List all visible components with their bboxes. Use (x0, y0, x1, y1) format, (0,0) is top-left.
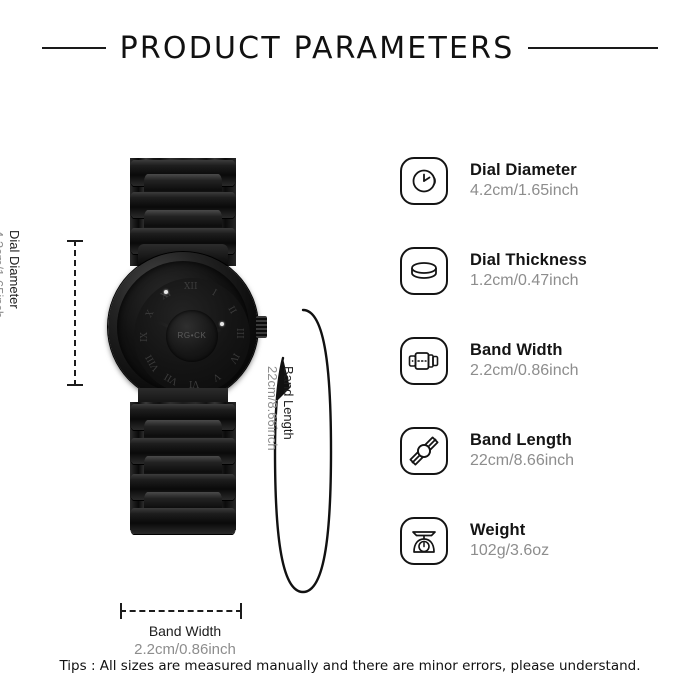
spec-value: 1.2cm/0.47inch (470, 271, 587, 292)
kitchen-scale-icon (400, 517, 448, 565)
watch-case: XII I II III IV V VI VII VIII IX X XI (108, 252, 258, 402)
watch-product-image: XII I II III IV V VI VII VIII IX X XI (108, 140, 258, 610)
band-width-dimension-line (120, 610, 242, 612)
dial-numeral: X (144, 309, 156, 320)
watch-crown (256, 316, 267, 338)
spec-row-dial-diameter: Dial Diameter 4.2cm/1.65inch (400, 148, 690, 214)
dial-numeral: II (225, 305, 237, 316)
spec-label: Weight (470, 520, 549, 541)
dial-brand-text: RG•CK (166, 331, 218, 340)
dial-numeral: III (234, 328, 244, 339)
callout-label: Band Length (280, 366, 296, 546)
spec-text: Dial Thickness 1.2cm/0.47inch (470, 250, 587, 291)
spec-text: Band Width 2.2cm/0.86inch (470, 340, 579, 381)
callout-value: 22cm/8.66inch (265, 366, 281, 546)
spec-row-weight: Weight 102g/3.6oz (400, 508, 690, 574)
spec-row-band-length: Band Length 22cm/8.66inch (400, 418, 690, 484)
spec-text: Dial Diameter 4.2cm/1.65inch (470, 160, 579, 201)
dial-numeral: XII (184, 282, 198, 292)
spec-value: 4.2cm/1.65inch (470, 181, 579, 202)
watch-band-lower (130, 402, 236, 530)
dial-bead (164, 290, 168, 294)
dial-numeral: IX (140, 332, 150, 342)
dial-hub: RG•CK (166, 310, 218, 362)
watch-clock-icon (400, 157, 448, 205)
page-title: PRODUCT PARAMETERS (120, 31, 515, 66)
watch-strap-diagonal-icon (400, 427, 448, 475)
spec-row-band-width: Band Width 2.2cm/0.86inch (400, 328, 690, 394)
title-rule-right (528, 47, 658, 49)
callout-value: 2.2cm/0.86inch (60, 640, 310, 660)
callout-value: 4.2cm/1.65inch (0, 230, 6, 400)
watch-dial: XII I II III IV V VI VII VIII IX X XI (134, 278, 250, 394)
dial-diameter-callout: Dial Diameter 4.2cm/1.65inch (0, 230, 22, 400)
disc-thickness-icon (400, 247, 448, 295)
watch-bezel: XII I II III IV V VI VII VIII IX X XI (117, 261, 249, 393)
dial-numeral: VIII (144, 353, 161, 373)
dial-diameter-dimension-line (74, 240, 76, 386)
band-width-callout: Band Width 2.2cm/0.86inch (60, 622, 310, 660)
spec-text: Band Length 22cm/8.66inch (470, 430, 574, 471)
dial-numeral: VII (163, 371, 180, 386)
band-length-loop: Band Length 22cm/8.66inch (272, 306, 334, 596)
callout-label: Band Width (60, 622, 310, 640)
dial-numeral: I (210, 288, 218, 298)
watch-band-icon (400, 337, 448, 385)
title-rule-left (42, 47, 106, 49)
dial-numeral: V (211, 370, 222, 382)
dial-numeral: VI (189, 378, 199, 388)
band-link (130, 508, 236, 534)
callout-label: Dial Diameter (6, 230, 22, 400)
spec-label: Band Length (470, 430, 574, 451)
spec-label: Dial Diameter (470, 160, 579, 181)
spec-text: Weight 102g/3.6oz (470, 520, 549, 561)
specifications-list: Dial Diameter 4.2cm/1.65inch Dial Thickn… (400, 148, 690, 574)
product-illustration-panel: XII I II III IV V VI VII VIII IX X XI (0, 110, 380, 580)
footer-tips: Tips : All sizes are measured manually a… (0, 658, 700, 674)
spec-value: 2.2cm/0.86inch (470, 361, 579, 382)
page-header: PRODUCT PARAMETERS (0, 26, 700, 70)
dial-bead (220, 322, 224, 326)
spec-value: 102g/3.6oz (470, 541, 549, 562)
spec-label: Band Width (470, 340, 579, 361)
spec-row-dial-thickness: Dial Thickness 1.2cm/0.47inch (400, 238, 690, 304)
spec-label: Dial Thickness (470, 250, 587, 271)
band-length-callout: Band Length 22cm/8.66inch (256, 366, 296, 546)
spec-value: 22cm/8.66inch (470, 451, 574, 472)
dial-numeral: IV (227, 351, 241, 365)
